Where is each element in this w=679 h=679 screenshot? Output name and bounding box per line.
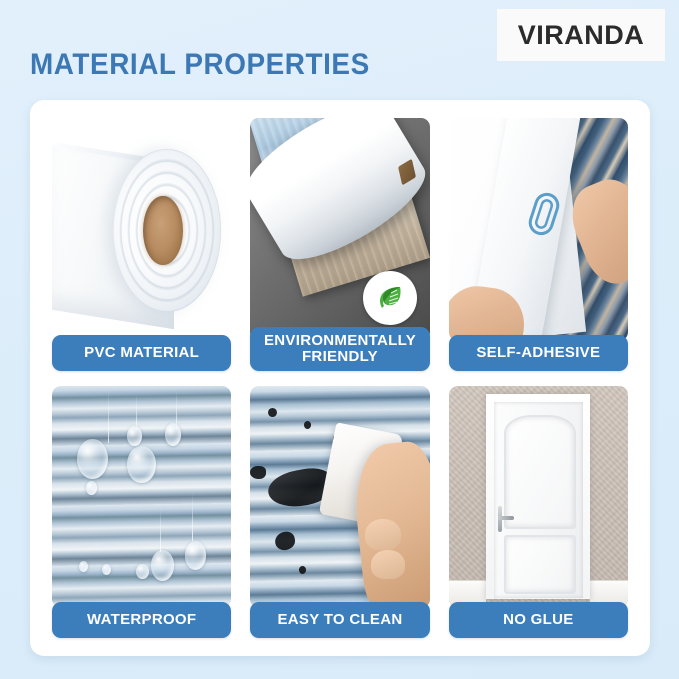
feature-image-pvc-material [52, 118, 231, 341]
feature-label-self-adhesive: SELF-ADHESIVE [449, 335, 628, 371]
brand-logo: VIRANDA [497, 9, 665, 61]
feature-card-waterproof[interactable]: WATERPROOF [46, 382, 237, 643]
features-grid: PVC MATERIAL [46, 114, 634, 642]
door-illustration [449, 386, 628, 609]
leaf-icon [373, 281, 407, 315]
feature-card-pvc-material[interactable]: PVC MATERIAL [46, 114, 237, 375]
pvc-roll-illustration [52, 118, 231, 341]
infographic-page: VIRANDA MATERIAL PROPERTIES PVC MATERIAL [0, 0, 679, 679]
feature-image-no-glue [449, 386, 628, 609]
feature-image-environmentally-friendly [250, 118, 429, 341]
feature-image-easy-to-clean [250, 386, 429, 609]
eco-roll-illustration [250, 118, 429, 341]
easy-clean-illustration [250, 386, 429, 609]
features-panel: PVC MATERIAL [30, 100, 650, 656]
page-title: MATERIAL PROPERTIES [30, 48, 370, 82]
feature-label-pvc-material: PVC MATERIAL [52, 335, 231, 371]
feature-card-no-glue[interactable]: NO GLUE [443, 382, 634, 643]
feature-label-environmentally-friendly: ENVIRONMENTALLY FRIENDLY [250, 327, 429, 371]
brand-name: VIRANDA [518, 20, 645, 51]
eco-badge [363, 271, 417, 325]
feature-label-easy-to-clean: EASY TO CLEAN [250, 602, 429, 638]
feature-image-waterproof [52, 386, 231, 609]
waterproof-illustration [52, 386, 231, 609]
feature-image-self-adhesive [449, 118, 628, 341]
peel-illustration [449, 118, 628, 341]
feature-card-easy-to-clean[interactable]: EASY TO CLEAN [244, 382, 435, 643]
feature-card-self-adhesive[interactable]: SELF-ADHESIVE [443, 114, 634, 375]
feature-card-environmentally-friendly[interactable]: ENVIRONMENTALLY FRIENDLY [244, 114, 435, 375]
feature-label-no-glue: NO GLUE [449, 602, 628, 638]
feature-label-waterproof: WATERPROOF [52, 602, 231, 638]
